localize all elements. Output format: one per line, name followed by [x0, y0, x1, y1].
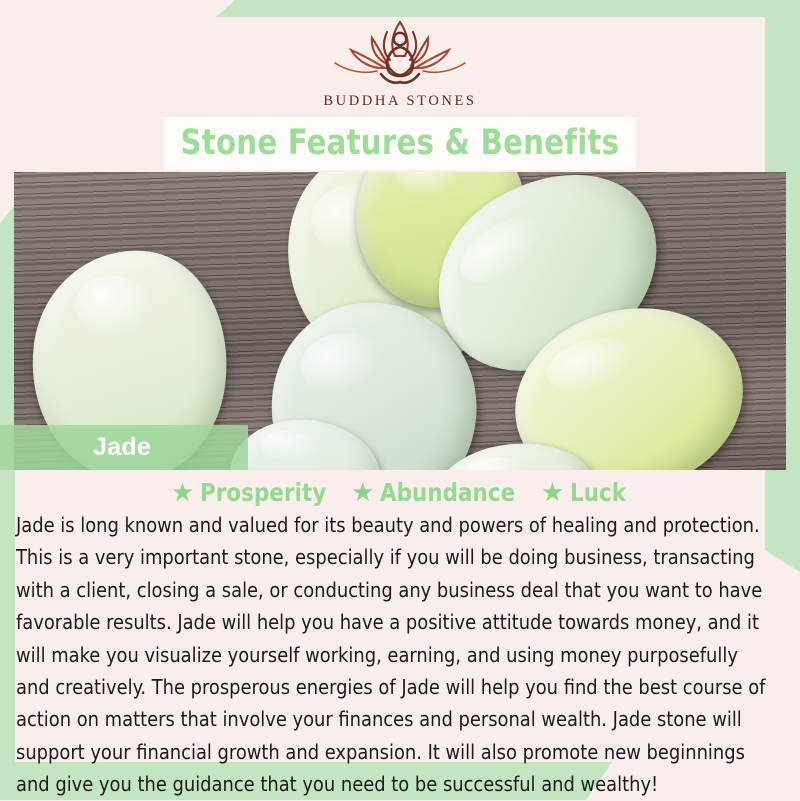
- page-title: Stone Features & Benefits: [181, 126, 620, 161]
- star-icon: ★: [171, 479, 194, 505]
- benefits-row: ★ Prosperity ★ Abundance ★ Luck: [0, 479, 800, 505]
- title-banner: Stone Features & Benefits: [164, 117, 636, 170]
- star-icon: ★: [351, 479, 374, 505]
- brand-logo: BUDDHA STONES: [0, 0, 800, 110]
- star-icon: ★: [541, 479, 564, 505]
- benefit-item: ★ Abundance: [351, 479, 523, 505]
- benefit-item: ★ Prosperity: [171, 479, 333, 505]
- stone-name-label: Jade: [93, 433, 151, 462]
- stone-description: Jade is long known and valued for its be…: [16, 509, 769, 801]
- benefit-label: Prosperity: [200, 480, 326, 505]
- stone-name-bar: Jade: [0, 425, 248, 470]
- lotus-meditation-icon: [325, 16, 475, 88]
- benefit-label: Luck: [570, 480, 626, 505]
- benefit-item: ★ Luck: [541, 479, 629, 505]
- brand-name: BUDDHA STONES: [323, 93, 476, 110]
- benefit-label: Abundance: [380, 480, 515, 505]
